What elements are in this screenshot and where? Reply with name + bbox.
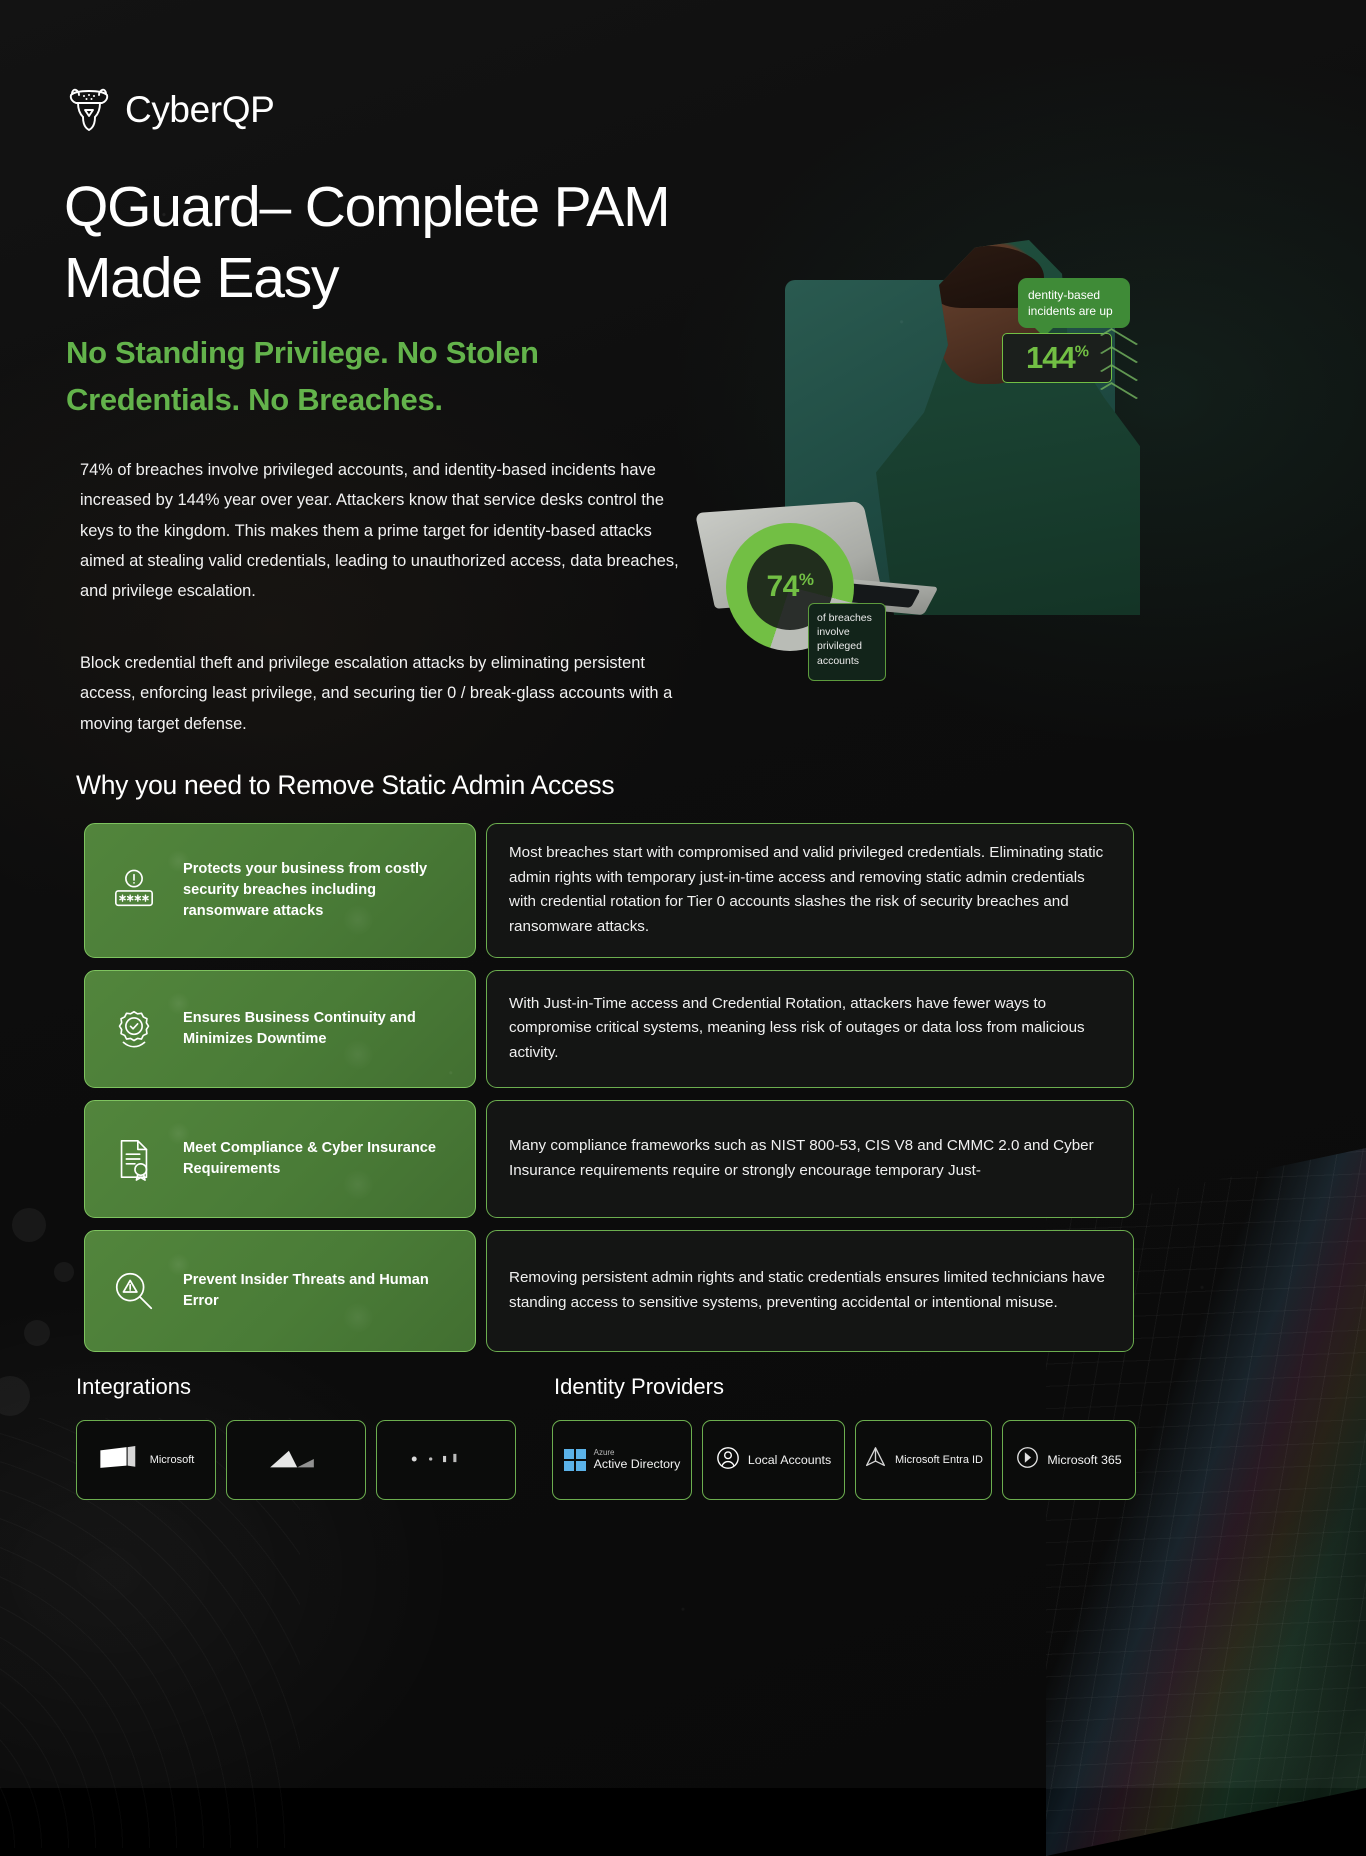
benefit-title: Meet Compliance & Cyber Insurance Requir… [183, 1138, 457, 1179]
idp-tile-active-directory[interactable]: Azure Active Directory [552, 1420, 692, 1500]
microsoft-flag-icon [98, 1446, 142, 1475]
intro-paragraph-1: 74% of breaches involve privileged accou… [80, 455, 685, 607]
brand-logo[interactable]: CyberQP [66, 84, 274, 136]
benefits-list: Protects your business from costly secur… [84, 823, 1134, 1364]
benefit-description-card: With Just-in-Time access and Credential … [486, 970, 1134, 1088]
benefit-title-card[interactable]: Ensures Business Continuity and Minimize… [84, 970, 476, 1088]
certificate-document-icon [103, 1136, 165, 1182]
cyberqp-lion-mark-icon [66, 84, 112, 136]
donut-value: 74% [767, 570, 814, 604]
benefit-row: Protects your business from costly secur… [84, 823, 1134, 958]
idp-sublabel: Azure [594, 1448, 681, 1457]
idp-label: Microsoft Entra ID [895, 1454, 983, 1466]
idp-label: Local Accounts [748, 1453, 831, 1467]
partner-logo-2-icon [266, 1444, 318, 1477]
microsoft-365-icon [1016, 1446, 1039, 1474]
benefits-section-title: Why you need to Remove Static Admin Acce… [76, 770, 614, 801]
infographic-page: CyberQP QGuard– Complete PAM Made Easy N… [0, 0, 1366, 1788]
benefit-description: Many compliance frameworks such as NIST … [509, 1134, 1111, 1183]
identity-providers-title: Identity Providers [554, 1374, 724, 1400]
intro-paragraph-2: Block credential theft and privilege esc… [80, 648, 685, 739]
benefit-title-card[interactable]: Protects your business from costly secur… [84, 823, 476, 958]
identity-providers-logo-strip: Azure Active Directory Local Accounts Mi… [552, 1420, 1136, 1500]
benefit-title-card[interactable]: Meet Compliance & Cyber Insurance Requir… [84, 1100, 476, 1218]
benefit-title-card[interactable]: Prevent Insider Threats and Human Error [84, 1230, 476, 1352]
incidents-stat-box: 144% [1002, 333, 1112, 383]
partner-logo-3-icon [406, 1450, 478, 1471]
bokeh-dot [24, 1320, 50, 1346]
idp-tile-local-accounts[interactable]: Local Accounts [702, 1420, 845, 1500]
benefit-description-card: Removing persistent admin rights and sta… [486, 1230, 1134, 1352]
user-circle-icon [716, 1446, 740, 1475]
bokeh-dot [0, 1376, 30, 1416]
bokeh-dot [12, 1208, 46, 1242]
integration-label: Microsoft [150, 1454, 195, 1466]
idp-label: Microsoft 365 [1047, 1453, 1121, 1467]
integration-tile-2[interactable] [226, 1420, 366, 1500]
brand-name: CyberQP [125, 89, 274, 131]
entra-id-icon [864, 1446, 887, 1474]
idp-tile-microsoft-365[interactable]: Microsoft 365 [1002, 1420, 1136, 1500]
integration-tile-3[interactable] [376, 1420, 516, 1500]
page-subtitle: No Standing Privilege. No Stolen Credent… [66, 330, 646, 423]
benefit-title: Ensures Business Continuity and Minimize… [183, 1008, 457, 1049]
page-title: QGuard– Complete PAM Made Easy [64, 172, 724, 315]
integration-tile-microsoft[interactable]: Microsoft [76, 1420, 216, 1500]
benefit-description-card: Most breaches start with compromised and… [486, 823, 1134, 958]
windows-logo-icon [564, 1449, 586, 1471]
benefit-title: Protects your business from costly secur… [183, 859, 457, 921]
benefit-row: Prevent Insider Threats and Human Error … [84, 1230, 1134, 1352]
benefit-title: Prevent Insider Threats and Human Error [183, 1270, 457, 1311]
idp-label: Active Directory [594, 1457, 681, 1471]
donut-caption: of breaches involve privileged accounts [808, 603, 886, 681]
magnifier-warning-icon [103, 1268, 165, 1314]
integrations-title: Integrations [76, 1374, 191, 1400]
benefit-description: With Just-in-Time access and Credential … [509, 992, 1111, 1066]
chevron-up-icon [1104, 333, 1138, 405]
benefit-row: Meet Compliance & Cyber Insurance Requir… [84, 1100, 1134, 1218]
benefit-row: Ensures Business Continuity and Minimize… [84, 970, 1134, 1088]
password-alert-icon [103, 868, 165, 912]
idp-tile-entra-id[interactable]: Microsoft Entra ID [855, 1420, 992, 1500]
benefit-description-card: Many compliance frameworks such as NIST … [486, 1100, 1134, 1218]
benefit-description: Most breaches start with compromised and… [509, 841, 1111, 940]
incidents-value: 144% [1026, 340, 1088, 376]
bokeh-dot [54, 1262, 74, 1282]
incidents-badge-label: dentity-based incidents are up [1018, 278, 1130, 328]
benefit-description: Removing persistent admin rights and sta… [509, 1266, 1111, 1315]
integrations-logo-strip: Microsoft [76, 1420, 516, 1500]
hero-illustration: 74% of breaches involve privileged accou… [690, 245, 1150, 705]
clock-gear-check-icon [103, 1006, 165, 1052]
